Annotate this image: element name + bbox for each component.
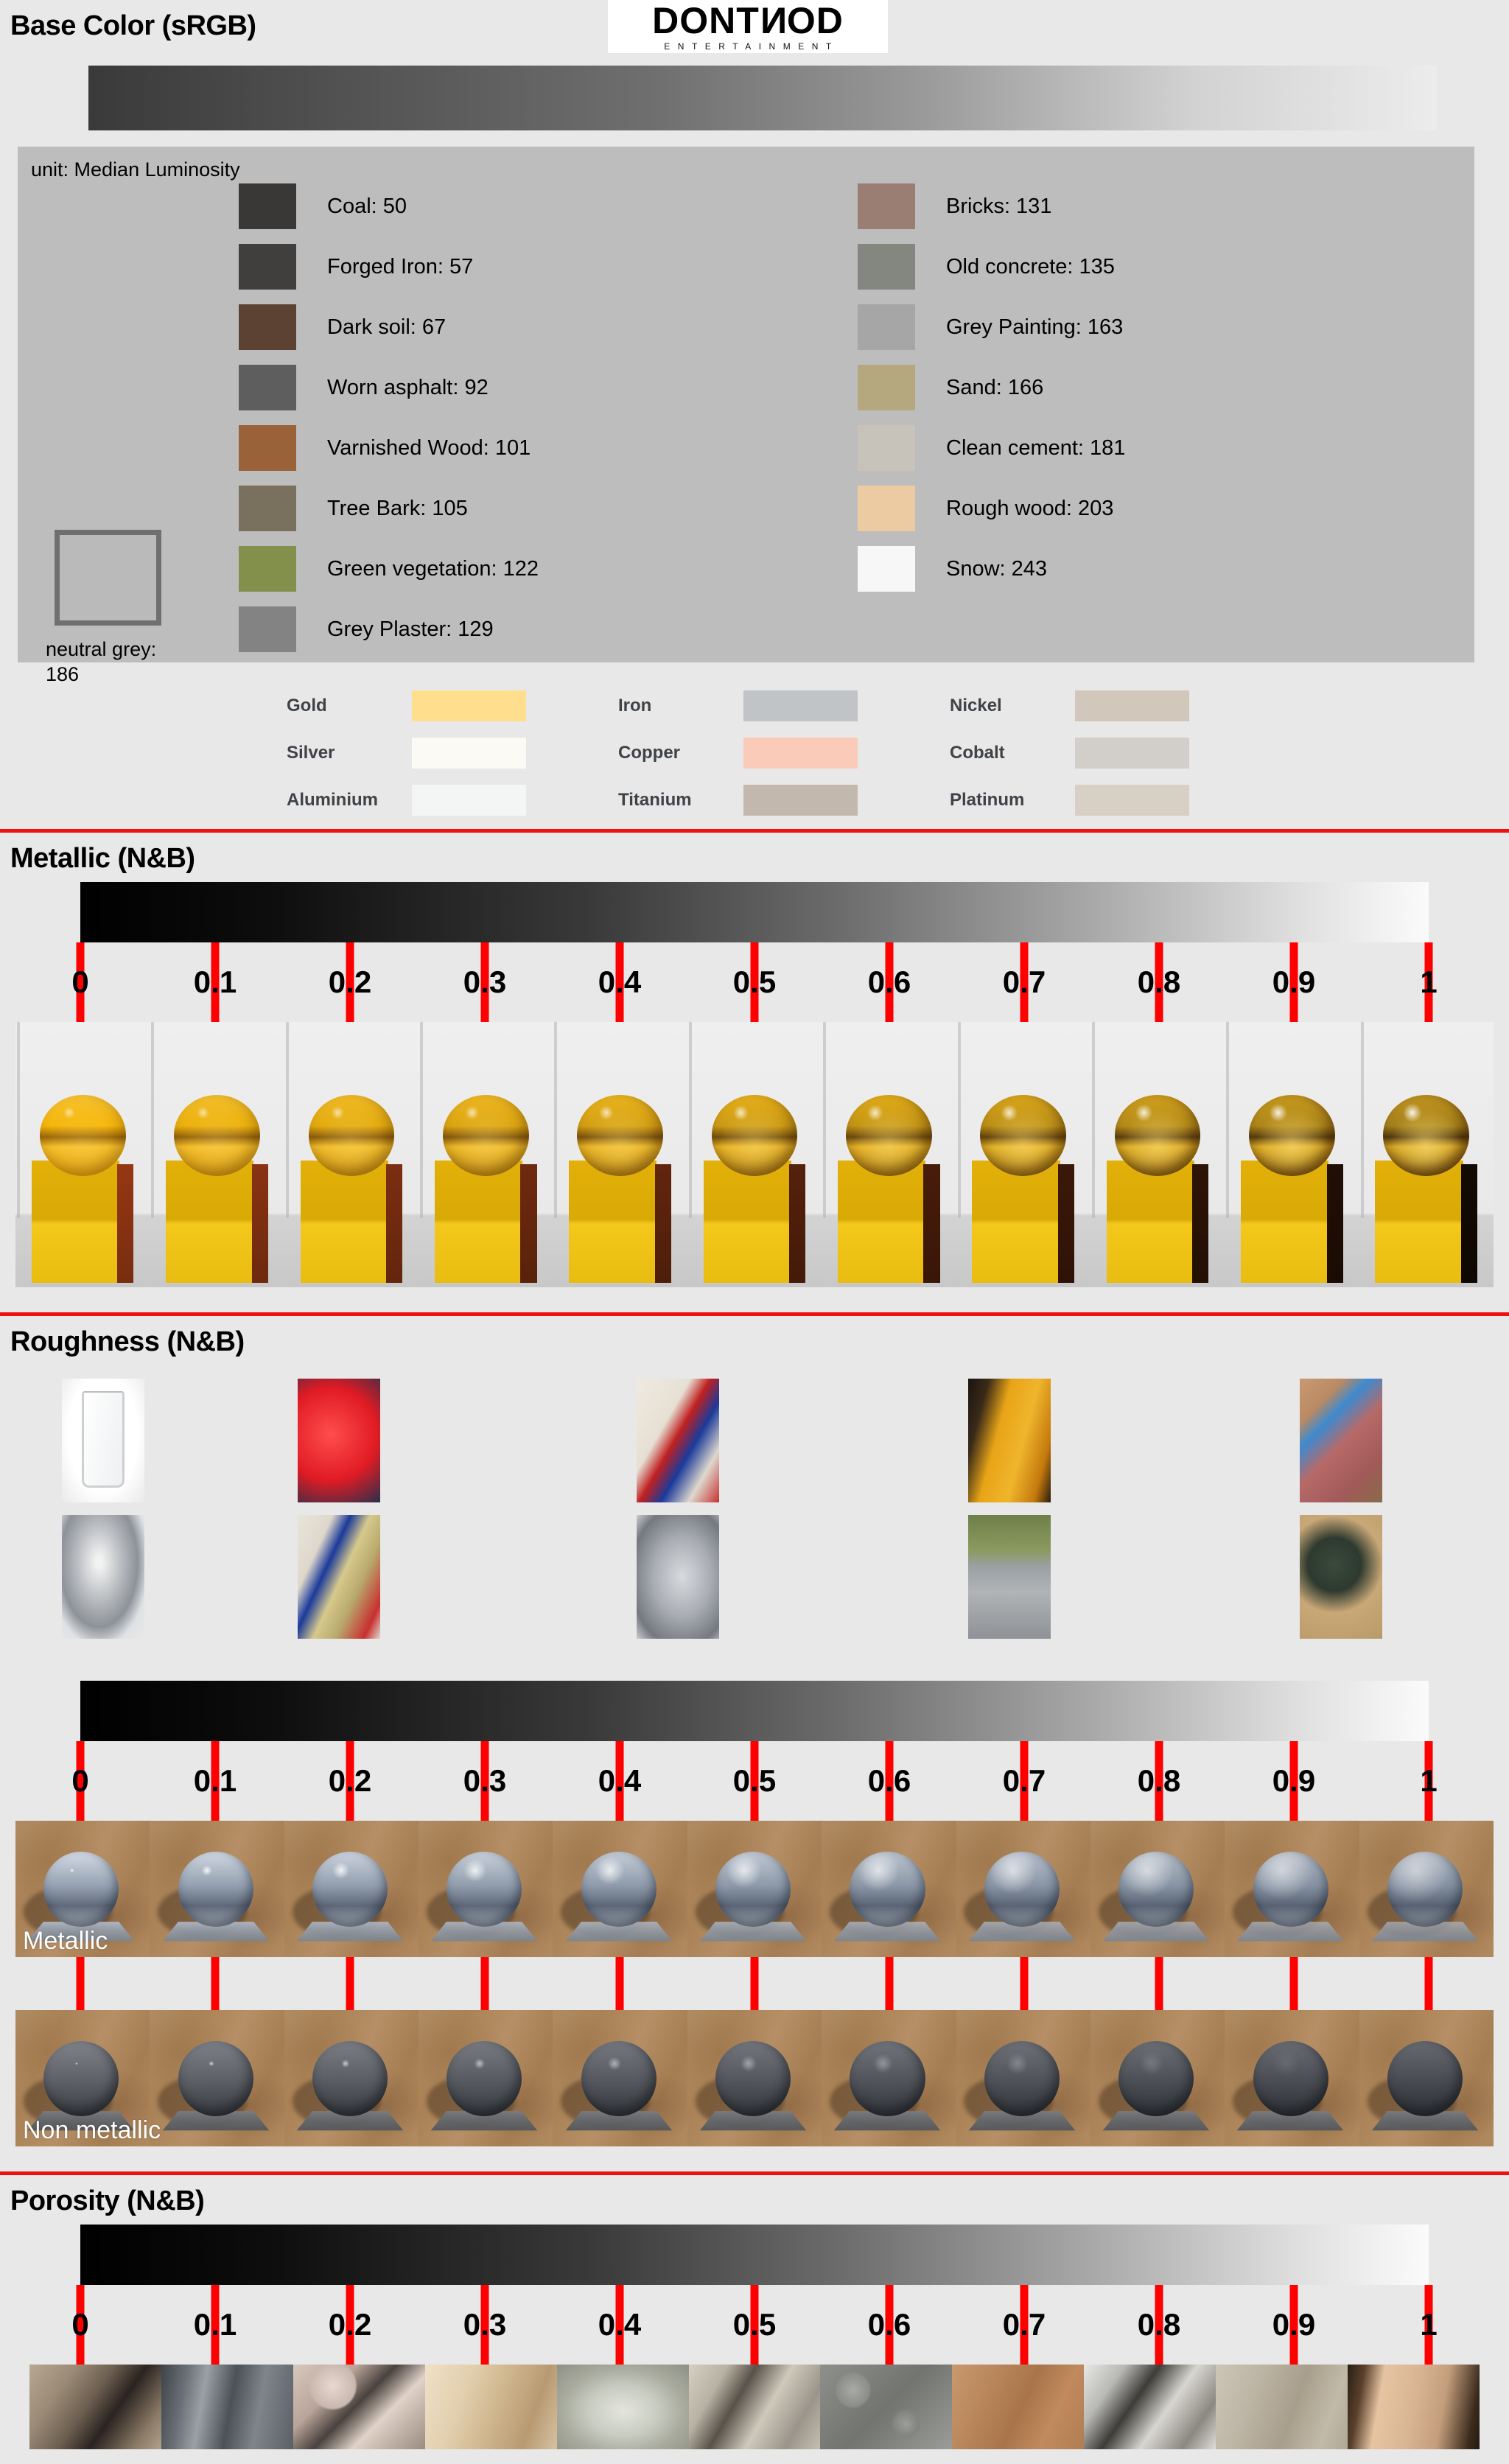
roughness-nonmetallic-sample <box>284 2010 419 2146</box>
cube-front <box>1375 1161 1463 1283</box>
metal-row: Iron <box>589 690 920 721</box>
dontnod-logo: DONT N OD ENTERTAINMENT <box>608 0 888 53</box>
gold-sphere <box>712 1095 798 1175</box>
non-metallic-sphere <box>312 2041 388 2116</box>
reference-photo-red-gift-bow <box>298 1379 380 1502</box>
scale-tick-label: 0.3 <box>463 2309 506 2340</box>
metal-column: IronCopperTitanium <box>589 690 920 816</box>
gold-sphere <box>1383 1095 1469 1175</box>
roughness-nonmetallic-sample <box>553 2010 687 2146</box>
color-swatch <box>239 486 296 531</box>
cube-side <box>923 1164 939 1283</box>
scale-tick-label: 0.8 <box>1138 2309 1180 2340</box>
cube-side <box>789 1164 805 1283</box>
porosity-sample-speckled-granite <box>293 2365 425 2449</box>
metallic-sphere <box>850 1852 925 1927</box>
scale-tick <box>1155 1957 1163 2010</box>
backdrop-seam <box>689 1022 692 1218</box>
cube-front <box>166 1161 253 1283</box>
scale-tick-label: 0.2 <box>329 2309 371 2340</box>
cube-front <box>838 1161 925 1283</box>
porosity-gradient-bar <box>80 2225 1429 2285</box>
metal-name-label: Aluminium <box>257 790 412 811</box>
porosity-sample-river-pebbles <box>820 2365 952 2449</box>
porosity-sample-limestone-block <box>425 2365 557 2449</box>
gold-sphere <box>577 1095 663 1175</box>
color-swatch <box>239 183 296 229</box>
base-color-gradient-bar <box>88 66 1437 130</box>
non-metallic-sphere <box>850 2041 925 2116</box>
neutral-grey-swatch <box>55 530 161 626</box>
porosity-sample-dry-beach-sand <box>1216 2365 1348 2449</box>
color-swatch <box>858 365 915 410</box>
metal-name-label: Platinum <box>920 790 1075 811</box>
gold-cube <box>569 1161 671 1283</box>
metallic-sphere <box>312 1852 388 1927</box>
logo-mirrored-n: N <box>760 2 787 39</box>
roughness-metallic-sample <box>553 1821 687 1957</box>
roughness-tick-row: 00.10.20.30.40.50.60.70.80.91 <box>80 1741 1429 1821</box>
gold-cube <box>301 1161 403 1283</box>
roughness-reference-photos <box>0 1371 1509 1681</box>
color-swatch <box>239 546 296 592</box>
metal-color-swatch <box>412 785 526 816</box>
base-color-item-label: Sand: 166 <box>946 376 1043 400</box>
scale-tick-label: 0.2 <box>329 1765 371 1796</box>
metal-row: Titanium <box>589 785 920 816</box>
cube-side <box>1461 1164 1477 1283</box>
metallic-sphere <box>715 1852 791 1927</box>
section-title-roughness: Roughness (N&B) <box>0 1316 1509 1365</box>
base-color-item-label: Grey Plaster: 129 <box>327 617 494 642</box>
scale-tick-label: 0.3 <box>463 1765 506 1796</box>
base-color-item: Snow: 243 <box>858 539 1125 599</box>
scale-tick-label: 0.5 <box>733 1765 776 1796</box>
base-color-item-label: Worn asphalt: 92 <box>327 376 489 400</box>
roughness-mid-ticks <box>80 1957 1429 2010</box>
roughness-metallic-sample <box>419 1821 553 1957</box>
gold-cube <box>32 1161 134 1283</box>
backdrop-seam <box>958 1022 961 1218</box>
backdrop-seam <box>1226 1022 1229 1218</box>
gold-sphere <box>443 1095 529 1175</box>
gold-sphere <box>1115 1095 1201 1175</box>
base-color-item-label: Varnished Wood: 101 <box>327 436 531 461</box>
metallic-sample <box>284 1022 419 1287</box>
scale-tick-label: 0.3 <box>463 967 506 998</box>
gold-sphere <box>1249 1095 1335 1175</box>
metallic-sample <box>419 1022 553 1287</box>
color-swatch <box>858 425 915 471</box>
scale-tick-label: 0.4 <box>598 967 641 998</box>
metallic-sample <box>687 1022 822 1287</box>
cube-side <box>1058 1164 1074 1283</box>
metal-color-swatch <box>743 690 858 721</box>
backdrop-seam <box>823 1022 826 1218</box>
gold-cube <box>435 1161 537 1283</box>
metallic-sample <box>1225 1022 1359 1287</box>
cube-side <box>1192 1164 1208 1283</box>
scale-tick-label: 0.1 <box>194 2309 237 2340</box>
logo-wordmark: DONT N OD <box>652 2 844 39</box>
roughness-row-metallic: Metallic <box>15 1821 1494 1957</box>
metal-column: NickelCobaltPlatinum <box>920 690 1252 816</box>
metal-color-swatch <box>412 738 526 769</box>
metallic-sphere <box>984 1852 1060 1927</box>
cube-front <box>1107 1161 1194 1283</box>
metal-name-label: Copper <box>589 743 743 763</box>
metal-color-swatch <box>743 738 858 769</box>
roughness-nonmetallic-sample <box>1090 2010 1225 2146</box>
metallic-sphere <box>1253 1852 1328 1927</box>
metal-row: Gold <box>257 690 589 721</box>
roughness-nonmetallic-sample <box>150 2010 284 2146</box>
gold-sphere <box>40 1095 126 1175</box>
color-swatch <box>858 486 915 531</box>
cube-side <box>520 1164 536 1283</box>
roughness-nonmetallic-sample <box>822 2010 956 2146</box>
backdrop-seam <box>1361 1022 1364 1218</box>
roughness-metallic-sample <box>956 1821 1090 1957</box>
metallic-render-strip <box>15 1022 1494 1287</box>
base-color-item: Clean cement: 181 <box>858 418 1125 478</box>
roughness-metallic-sample <box>687 1821 822 1957</box>
cube-front <box>435 1161 522 1283</box>
metallic-sample <box>150 1022 284 1287</box>
cube-front <box>32 1161 119 1283</box>
base-color-item: Varnished Wood: 101 <box>239 418 539 478</box>
base-color-item-label: Forged Iron: 57 <box>327 255 473 279</box>
non-metallic-sphere <box>581 2041 657 2116</box>
porosity-sample-dark-wet-sand <box>1084 2365 1216 2449</box>
roughness-metallic-sample <box>1090 1821 1225 1957</box>
metal-color-swatch <box>412 690 526 721</box>
roughness-metallic-sample <box>1225 1821 1359 1957</box>
gold-cube <box>1107 1161 1209 1283</box>
non-metallic-sphere <box>1253 2041 1328 2116</box>
logo-subtitle: ENTERTAINMENT <box>657 41 838 52</box>
base-color-item: Grey Painting: 163 <box>858 297 1125 357</box>
roughness-row-non-metallic: Non metallic <box>15 2010 1494 2146</box>
cube-front <box>569 1161 657 1283</box>
metallic-sample <box>1359 1022 1494 1287</box>
base-color-item: Dark soil: 67 <box>239 297 539 357</box>
metallic-sphere <box>178 1852 253 1927</box>
roughness-nonmetallic-sample <box>956 2010 1090 2146</box>
roughness-gradient-bar <box>80 1681 1429 1741</box>
metal-row: Silver <box>257 738 589 769</box>
gold-cube <box>166 1161 268 1283</box>
unit-label: unit: Median Luminosity <box>31 158 240 181</box>
base-color-item: Bricks: 131 <box>858 176 1125 237</box>
reference-photo-chrome-egg-ornament <box>62 1515 144 1639</box>
base-color-item: Green vegetation: 122 <box>239 539 539 599</box>
base-color-item-label: Coal: 50 <box>327 195 407 219</box>
porosity-sample-red-sandstone <box>952 2365 1084 2449</box>
metal-color-swatch <box>1075 690 1189 721</box>
roughness-nonmetallic-sample <box>687 2010 822 2146</box>
metal-row: Platinum <box>920 785 1252 816</box>
base-color-item: Forged Iron: 57 <box>239 237 539 297</box>
cube-side <box>252 1164 268 1283</box>
gold-sphere <box>174 1095 260 1175</box>
metal-row: Nickel <box>920 690 1252 721</box>
cube-front <box>704 1161 791 1283</box>
backdrop-seam <box>554 1022 557 1218</box>
base-color-item: Tree Bark: 105 <box>239 478 539 539</box>
metallic-sample <box>1090 1022 1225 1287</box>
roughness-nonmetallic-sample <box>1359 2010 1494 2146</box>
base-color-item-label: Snow: 243 <box>946 557 1047 581</box>
metal-name-label: Iron <box>589 696 743 716</box>
color-swatch <box>239 425 296 471</box>
color-swatch <box>239 606 296 652</box>
metal-column: GoldSilverAluminium <box>257 690 589 816</box>
scale-tick-label: 0.6 <box>868 1765 911 1796</box>
base-color-item: Worn asphalt: 92 <box>239 357 539 418</box>
backdrop-seam <box>420 1022 423 1218</box>
backdrop-seam <box>286 1022 289 1218</box>
metallic-sample <box>822 1022 956 1287</box>
base-color-item-label: Rough wood: 203 <box>946 497 1113 521</box>
non-metallic-sphere <box>1387 2041 1463 2116</box>
metal-name-label: Silver <box>257 743 412 763</box>
base-color-item-label: Old concrete: 135 <box>946 255 1115 279</box>
base-color-item-label: Grey Painting: 163 <box>946 315 1123 340</box>
gold-cube <box>1375 1161 1477 1283</box>
metal-row: Cobalt <box>920 738 1252 769</box>
base-color-item-label: Dark soil: 67 <box>327 315 446 340</box>
metal-name-label: Titanium <box>589 790 743 811</box>
color-swatch <box>239 244 296 290</box>
base-color-legend-panel: unit: Median Luminosity neutral grey: 18… <box>18 147 1474 662</box>
non-metallic-sphere <box>43 2041 119 2116</box>
scale-tick <box>211 1957 220 2010</box>
non-metallic-sphere <box>984 2041 1060 2116</box>
scale-tick-label: 0.1 <box>194 967 237 998</box>
color-swatch <box>239 365 296 410</box>
cube-front <box>1241 1161 1328 1283</box>
scale-tick-label: 0 <box>71 2309 88 2340</box>
cube-front <box>301 1161 388 1283</box>
porosity-sample-cracked-rock <box>29 2365 161 2449</box>
base-color-left-column: Coal: 50Forged Iron: 57Dark soil: 67Worn… <box>239 176 539 659</box>
scale-tick-label: 0.8 <box>1138 1765 1180 1796</box>
scale-tick-label: 0.9 <box>1272 1765 1315 1796</box>
cube-side <box>117 1164 133 1283</box>
scale-tick-label: 0 <box>71 967 88 998</box>
scale-tick-label: 1 <box>1420 2309 1437 2340</box>
pbr-reference-chart: Base Color (sRGB) DONT N OD ENTERTAINMEN… <box>0 0 1509 2464</box>
scale-tick-label: 0.9 <box>1272 967 1315 998</box>
metal-reference-table: GoldSilverAluminiumIronCopperTitaniumNic… <box>0 680 1509 829</box>
gold-sphere <box>309 1095 395 1175</box>
gold-sphere <box>846 1095 932 1175</box>
backdrop-seam <box>1092 1022 1095 1218</box>
gold-cube <box>704 1161 806 1283</box>
logo-text-right: OD <box>787 2 844 39</box>
row-label-non-metallic: Non metallic <box>23 2116 161 2145</box>
base-color-item-label: Green vegetation: 122 <box>327 557 539 581</box>
scale-tick <box>481 1957 489 2010</box>
scale-tick-label: 0.9 <box>1272 2309 1315 2340</box>
metallic-sphere <box>1387 1852 1463 1927</box>
cube-side <box>386 1164 402 1283</box>
roughness-metallic-sample <box>822 1821 956 1957</box>
metallic-sphere <box>1118 1852 1194 1927</box>
metal-color-swatch <box>1075 785 1189 816</box>
cube-front <box>972 1161 1060 1283</box>
reference-photo-ballpoint-pens-on-paper <box>637 1379 719 1502</box>
metallic-scale: 00.10.20.30.40.50.60.70.80.91 <box>80 882 1429 1022</box>
color-swatch <box>858 546 915 592</box>
scale-tick <box>1290 1957 1298 2010</box>
non-metallic-sphere <box>1118 2041 1194 2116</box>
section-title-metallic: Metallic (N&B) <box>0 833 1509 882</box>
scale-tick-label: 0.1 <box>194 1765 237 1796</box>
row-label-metallic: Metallic <box>23 1927 108 1956</box>
metal-name-label: Nickel <box>920 696 1075 716</box>
metal-row: Aluminium <box>257 785 589 816</box>
reference-photo-tarnished-coins <box>1300 1515 1382 1639</box>
roughness-metallic-sample <box>1359 1821 1494 1957</box>
scale-tick <box>77 1957 85 2010</box>
reference-photo-pen-tip-closeup <box>298 1515 380 1639</box>
non-metallic-sphere <box>715 2041 791 2116</box>
logo-text-left: DONT <box>652 2 760 39</box>
base-color-item: Rough wood: 203 <box>858 478 1125 539</box>
scale-tick <box>616 1957 624 2010</box>
base-color-item-label: Tree Bark: 105 <box>327 497 468 521</box>
porosity-tick-row: 00.10.20.30.40.50.60.70.80.91 <box>80 2285 1429 2365</box>
metallic-sample <box>553 1022 687 1287</box>
roughness-metallic-sample <box>150 1821 284 1957</box>
base-color-item-label: Clean cement: 181 <box>946 436 1125 461</box>
scale-tick <box>346 1957 354 2010</box>
gold-cube <box>838 1161 940 1283</box>
roughness-scale: 00.10.20.30.40.50.60.70.80.91 <box>80 1681 1429 1821</box>
metal-color-swatch <box>743 785 858 816</box>
scale-tick <box>886 1957 894 2010</box>
scale-tick-label: 0.6 <box>868 967 911 998</box>
base-color-item-label: Bricks: 131 <box>946 195 1051 219</box>
metallic-sphere <box>43 1852 119 1927</box>
scale-tick <box>1425 1957 1433 2010</box>
gold-cube <box>972 1161 1074 1283</box>
scale-tick-label: 0.8 <box>1138 967 1180 998</box>
base-color-item: Old concrete: 135 <box>858 237 1125 297</box>
base-color-item: Sand: 166 <box>858 357 1125 418</box>
backdrop-seam <box>151 1022 154 1218</box>
metallic-sample <box>956 1022 1090 1287</box>
reference-photo-pencil-eraser <box>1300 1379 1382 1502</box>
color-swatch <box>858 244 915 290</box>
scale-tick-label: 0.5 <box>733 2309 776 2340</box>
metallic-tick-row: 00.10.20.30.40.50.60.70.80.91 <box>80 942 1429 1022</box>
base-color-item: Coal: 50 <box>239 176 539 237</box>
porosity-sample-slate-stacks <box>161 2365 293 2449</box>
non-metallic-sphere <box>178 2041 253 2116</box>
scale-tick-label: 0.5 <box>733 967 776 998</box>
scale-tick-label: 0.7 <box>1003 1765 1046 1796</box>
scale-tick-label: 1 <box>1420 967 1437 998</box>
porosity-sample-cracked-earth <box>689 2365 821 2449</box>
scale-tick-label: 0 <box>71 1765 88 1796</box>
cube-side <box>655 1164 671 1283</box>
porosity-sample-wet-clay-pottery <box>557 2365 689 2449</box>
reference-photo-orange-plastic-cap <box>968 1379 1051 1502</box>
metal-color-swatch <box>1075 738 1189 769</box>
metallic-sample <box>15 1022 150 1287</box>
base-color-item: Grey Plaster: 129 <box>239 599 539 659</box>
metal-name-label: Gold <box>257 696 412 716</box>
porosity-scale: 00.10.20.30.40.50.60.70.80.91 <box>80 2225 1429 2365</box>
porosity-sample-terracotta-planter <box>1348 2365 1480 2449</box>
color-swatch <box>858 183 915 229</box>
porosity-material-strip <box>29 2365 1480 2449</box>
scale-tick-label: 0.7 <box>1003 2309 1046 2340</box>
roughness-mid-tick-row <box>80 1957 1429 2010</box>
scale-tick-label: 0.2 <box>329 967 371 998</box>
reference-photo-cactus-in-metal-pot <box>968 1515 1051 1639</box>
neutral-grey-label: neutral grey: 186 <box>46 637 208 687</box>
reference-photo-perforated-metal-colander <box>637 1515 719 1639</box>
section-title-porosity: Porosity (N&B) <box>0 2175 1509 2225</box>
gold-sphere <box>980 1095 1066 1175</box>
color-swatch <box>239 304 296 350</box>
scale-tick-label: 0.4 <box>598 1765 641 1796</box>
color-swatch <box>858 304 915 350</box>
metallic-gradient-bar <box>80 882 1429 942</box>
scale-tick <box>751 1957 759 2010</box>
base-color-right-column: Bricks: 131Old concrete: 135Grey Paintin… <box>858 176 1125 599</box>
scale-tick-label: 0.4 <box>598 2309 641 2340</box>
roughness-nonmetallic-sample <box>419 2010 553 2146</box>
reference-photo-drinking-glass <box>62 1379 144 1502</box>
scale-tick <box>1020 1957 1029 2010</box>
roughness-metallic-sample <box>284 1821 419 1957</box>
scale-tick-label: 0.6 <box>868 2309 911 2340</box>
gold-cube <box>1241 1161 1343 1283</box>
metallic-sphere <box>581 1852 657 1927</box>
metal-name-label: Cobalt <box>920 743 1075 763</box>
roughness-nonmetallic-sample <box>1225 2010 1359 2146</box>
scale-tick-label: 1 <box>1420 1765 1437 1796</box>
backdrop-seam <box>17 1022 20 1218</box>
metal-row: Copper <box>589 738 920 769</box>
scale-tick-label: 0.7 <box>1003 967 1046 998</box>
cube-side <box>1327 1164 1343 1283</box>
